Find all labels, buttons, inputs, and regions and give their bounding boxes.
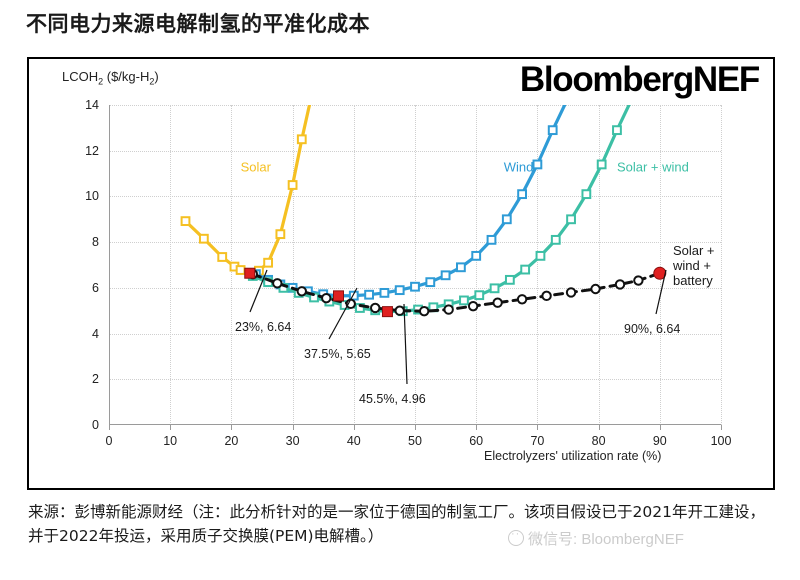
series-marker — [613, 126, 621, 134]
series-marker — [298, 287, 306, 295]
x-tick-label: 0 — [92, 434, 126, 448]
point-annotation: 23%, 6.64 — [235, 320, 291, 334]
x-tick-mark — [109, 425, 110, 430]
source-note: 来源：彭博新能源财经（注：此分析针对的是一家位于德国的制氢工厂。该项目假设已于2… — [28, 500, 778, 548]
y-tick-label: 0 — [69, 418, 99, 432]
x-tick-label: 50 — [398, 434, 432, 448]
series-marker — [518, 190, 526, 198]
series-marker — [426, 278, 434, 286]
series-label-wind: Wind — [504, 159, 534, 174]
series-marker — [457, 263, 465, 271]
point-annotation: 45.5%, 4.96 — [359, 392, 426, 406]
series-marker — [549, 126, 557, 134]
series-marker — [276, 230, 284, 238]
series-marker — [396, 307, 404, 315]
x-tick-mark — [660, 425, 661, 430]
x-tick-label: 70 — [520, 434, 554, 448]
series-marker — [534, 161, 542, 169]
series-marker — [598, 161, 606, 169]
x-tick-label: 80 — [582, 434, 616, 448]
y-tick-label: 10 — [69, 189, 99, 203]
y-tick-label: 2 — [69, 372, 99, 386]
series-marker — [491, 284, 499, 292]
x-tick-mark — [599, 425, 600, 430]
series-marker — [503, 215, 511, 223]
series-label-solar: Solar — [241, 159, 271, 174]
x-tick-mark — [231, 425, 232, 430]
x-tick-mark — [170, 425, 171, 430]
highlight-point — [334, 291, 344, 301]
series-marker — [381, 289, 389, 297]
series-marker — [365, 291, 373, 299]
x-axis-title: Electrolyzers' utilization rate (%) — [484, 449, 661, 463]
point-annotation: 37.5%, 5.65 — [304, 347, 371, 361]
series-marker — [396, 286, 404, 294]
series-marker — [542, 292, 550, 300]
highlight-point — [382, 307, 392, 317]
series-layer — [109, 105, 721, 425]
x-tick-mark — [354, 425, 355, 430]
series-marker — [591, 285, 599, 293]
series-marker — [493, 299, 501, 307]
series-marker — [322, 294, 330, 302]
series-marker — [442, 271, 450, 279]
series-marker — [518, 295, 526, 303]
series-marker — [264, 259, 272, 267]
plot-area: 024681012140102030405060708090100 SolarW… — [109, 105, 721, 425]
x-tick-label: 40 — [337, 434, 371, 448]
series-marker — [237, 266, 245, 274]
series-label-solar-wind-battery: Solar +wind +battery — [673, 244, 715, 288]
highlight-point — [245, 268, 255, 278]
y-axis-title: LCOH2 ($/kg-H2) — [62, 69, 159, 87]
series-marker — [218, 253, 226, 261]
y-tick-label: 4 — [69, 327, 99, 341]
series-marker — [200, 235, 208, 243]
series-marker — [475, 291, 483, 299]
y-tick-label: 8 — [69, 235, 99, 249]
x-tick-label: 30 — [276, 434, 310, 448]
series-marker — [298, 135, 306, 143]
x-tick-mark — [476, 425, 477, 430]
series-marker — [616, 280, 624, 288]
series-marker — [488, 236, 496, 244]
grid-line-vertical — [721, 105, 722, 425]
x-tick-label: 10 — [153, 434, 187, 448]
x-tick-label: 20 — [214, 434, 248, 448]
series-marker — [567, 288, 575, 296]
series-marker — [537, 252, 545, 260]
series-label-solar-wind: Solar + wind — [617, 159, 689, 174]
series-marker — [307, 94, 315, 102]
x-tick-label: 60 — [459, 434, 493, 448]
y-tick-label: 12 — [69, 144, 99, 158]
series-marker — [472, 252, 480, 260]
series-marker — [634, 276, 642, 284]
series-marker — [582, 190, 590, 198]
x-tick-label: 100 — [704, 434, 738, 448]
series-marker — [567, 215, 575, 223]
x-tick-mark — [293, 425, 294, 430]
x-tick-mark — [537, 425, 538, 430]
series-marker — [182, 217, 190, 225]
series-marker — [460, 297, 468, 305]
series-marker — [469, 302, 477, 310]
series-marker — [506, 276, 514, 284]
y-tick-label: 6 — [69, 281, 99, 295]
series-marker — [411, 283, 419, 291]
bloombergnef-logo: BloombergNEF — [520, 62, 759, 97]
series-marker — [444, 305, 452, 313]
series-marker — [371, 304, 379, 312]
point-annotation: 90%, 6.64 — [624, 322, 680, 336]
chart-figure: BloombergNEF LCOH2 ($/kg-H2) Electrolyze… — [27, 57, 775, 490]
y-tick-label: 14 — [69, 98, 99, 112]
series-marker — [552, 236, 560, 244]
x-tick-label: 90 — [643, 434, 677, 448]
x-tick-mark — [415, 425, 416, 430]
series-marker — [420, 307, 428, 315]
x-tick-mark — [721, 425, 722, 430]
series-marker — [521, 266, 529, 274]
series-marker — [273, 279, 281, 287]
series-marker — [289, 181, 297, 189]
page-title: 不同电力来源电解制氢的平准化成本 — [26, 8, 370, 38]
